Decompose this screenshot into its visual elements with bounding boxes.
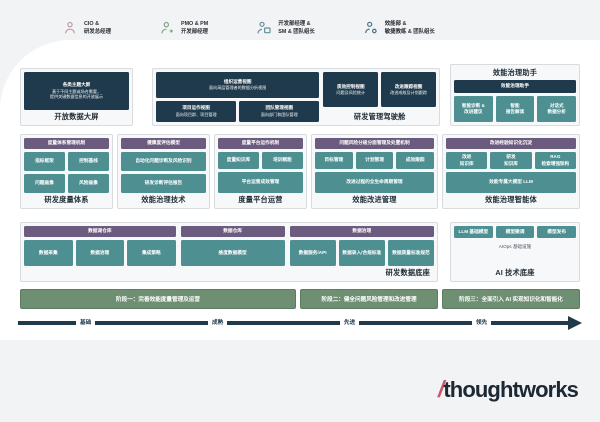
bigscreen-card-line3: 提供关键数据信息的开放展示	[50, 94, 103, 100]
improve-head-chip[interactable]: 问题风险分级分面管理及处置机制	[315, 138, 434, 149]
cockpit-inner: 组织运营视图 面向高层管理者的数据分析视图 项目运作视图 面向项目群、项目管理 …	[156, 72, 436, 122]
database-chip-processing[interactable]: 数据治理	[76, 240, 125, 266]
maturity-label-basic: 基础	[76, 317, 95, 329]
user-gear-icon	[363, 20, 379, 36]
tech-chip-assessment-report[interactable]: 研发诊断评估报告	[121, 174, 206, 193]
persona-devmanager-line1: 开发部经理 &	[278, 20, 315, 28]
platform-pair-row: 度量知识库 培训赋能	[218, 152, 303, 169]
maturity-label-leading: 领先	[472, 317, 491, 329]
cockpit-quality-view[interactable]: 质效控制视图 问题及风险统计	[323, 72, 378, 107]
panel-rd-data-foundation[interactable]: 数据湖仓库 数据采集 数据治理 集成策略 数据仓库 维度数据模型 数据治理 数据…	[20, 222, 438, 282]
assistant-item-report[interactable]: 智能 报告解读	[496, 96, 535, 122]
cockpit-team-view[interactable]: 团队管理视图 面向部门和团队管理	[239, 101, 319, 123]
aitech-chip-llm-base[interactable]: LLM 基础模型	[454, 226, 493, 238]
persona-efficiency-line2: 敏捷教练 & 团队组长	[385, 28, 435, 36]
logo-wordmark: thoughtworks	[443, 379, 578, 401]
agent-chip-rag[interactable]: RAG 检索增强架构	[535, 152, 576, 169]
agent-chip-llm[interactable]: 效能专属大模型 LLM	[446, 172, 576, 193]
persona-pmo-line1: PMO & PM	[181, 20, 208, 28]
user-add-icon	[159, 20, 175, 36]
persona-efficiency-label: 效能部 & 敏捷教练 & 团队组长	[385, 20, 435, 37]
metric-chip-issue-profile[interactable]: 问题画像	[24, 174, 65, 193]
improve-chip-goal[interactable]: 目标管理	[315, 152, 353, 169]
aitech-items-row: LLM 基础模型 模型微调 模型发布	[454, 226, 576, 238]
cockpit-right-column: 质效控制视图 问题及风险统计 改进跟踪视图 改进成效及计划跟踪 研发管理驾驶舱	[323, 72, 436, 122]
cockpit-team-view-desc: 面向部门和团队管理	[261, 112, 298, 118]
aitech-chip-finetune[interactable]: 模型微调	[496, 226, 535, 238]
maturity-label-mature: 成熟	[208, 317, 227, 329]
database-lakehouse-head[interactable]: 数据湖仓库	[24, 226, 176, 237]
cockpit-project-view[interactable]: 项目运作视图 面向项目群、项目管理	[156, 101, 236, 123]
metric-chip-control-baseline[interactable]: 控制基线	[68, 152, 109, 171]
database-group-governance: 数据治理 数据服务/API 数据录入/合规标准 数据质量标准规范	[290, 226, 434, 266]
database-warehouse-head[interactable]: 数据仓库	[181, 226, 285, 237]
aitech-panel-title: AI 技术底座	[454, 266, 576, 278]
persona-devmanager-label: 开发部经理 & SM & 团队组长	[278, 20, 315, 37]
footer: / thoughtworks	[0, 340, 600, 422]
database-chip-entry-standard[interactable]: 数据录入/合规标准	[339, 240, 385, 266]
assistant-item-chat-line2: 数据分析	[547, 109, 565, 115]
cockpit-tracking-view-desc: 改进成效及计划跟踪	[390, 90, 427, 96]
maturity-arrow-head	[568, 316, 582, 330]
phase-badge-2[interactable]: 阶段二：健全问题风险管理和改进管理	[300, 289, 438, 309]
persona-cio-line1: CIO &	[84, 20, 111, 28]
database-panel-title: 研发数据底座	[24, 266, 434, 278]
cockpit-org-view[interactable]: 组织运营视图 面向高层管理者的数据分析视图	[156, 72, 319, 98]
thoughtworks-logo: / thoughtworks	[438, 378, 578, 401]
persona-cio: CIO & 研发总经理	[62, 20, 111, 37]
tech-head-chip[interactable]: 健康度评估模型	[121, 138, 206, 149]
persona-cio-line2: 研发总经理	[84, 28, 111, 36]
phase-badge-1[interactable]: 阶段一：完善效能度量管理及运营	[20, 289, 296, 309]
platform-panel-title: 度量平台运营	[218, 193, 303, 205]
aitech-subtitle: AIOps 基础设施	[454, 244, 576, 250]
persona-pmo-line2: 开发部经理	[181, 28, 208, 36]
assistant-item-chat[interactable]: 对话式 数据分析	[537, 96, 576, 122]
metric-row-2: 问题画像 风险画像	[24, 174, 109, 193]
metric-head-chip[interactable]: 度量体系管理机制	[24, 138, 109, 149]
phase-badge-3[interactable]: 阶段三：全面引入 AI 实现知识化和智能化	[442, 289, 580, 309]
panel-efficiency-assistant[interactable]: 效能治理助手 效能治理助手 智能诊断 & 改进建议 智能 报告解读 对话式 数据…	[450, 64, 580, 126]
improve-chip-tracking[interactable]: 成效跟踪	[396, 152, 434, 169]
maturity-arrow: 基础 成熟 先进 领先	[18, 315, 582, 331]
metric-grid: 指标框架 控制基线 问题画像 风险画像	[24, 152, 109, 193]
assistant-item-report-line2: 报告解读	[506, 109, 524, 115]
database-group-lakehouse: 数据湖仓库 数据采集 数据治理 集成策略	[24, 226, 176, 266]
persona-efficiency-line1: 效能部 &	[385, 20, 435, 28]
database-chip-api-service[interactable]: 数据服务/API	[290, 240, 336, 266]
user-board-icon	[256, 20, 272, 36]
platform-chip-effectiveness[interactable]: 平台运营成效管理	[218, 172, 303, 193]
cockpit-org-view-desc: 面向高层管理者的数据分析视图	[209, 85, 266, 91]
panel-open-data-bigscreen[interactable]: 各类主题大屏 基于不同主题或场合需要， 提供关键数据信息的开放展示 开放数据大屏	[20, 68, 133, 126]
cockpit-left-column: 组织运营视图 面向高层管理者的数据分析视图 项目运作视图 面向项目群、项目管理 …	[156, 72, 319, 122]
agent-chip-improve-kb-line2: 知识库	[460, 161, 474, 167]
database-groups: 数据湖仓库 数据采集 数据治理 集成策略 数据仓库 维度数据模型 数据治理 数据…	[24, 226, 434, 266]
platform-chip-knowledge-base[interactable]: 度量知识库	[218, 152, 259, 169]
agent-rows: 改进 知识库 研发 知识库 RAG 检索增强架构 效能专属大模型 LLM	[446, 152, 576, 193]
tech-panel-title: 效能治理技术	[121, 193, 206, 205]
metric-row-1: 指标框架 控制基线	[24, 152, 109, 171]
tech-rows: 自动化问题诊断及风险识别 研发诊断评估报告	[121, 152, 206, 193]
database-governance-head[interactable]: 数据治理	[290, 226, 434, 237]
assistant-items-row: 智能诊断 & 改进建议 智能 报告解读 对话式 数据分析	[454, 96, 576, 122]
platform-rows: 度量知识库 培训赋能 平台运营成效管理	[218, 152, 303, 193]
cockpit-left-bottom-row: 项目运作视图 面向项目群、项目管理 团队管理视图 面向部门和团队管理	[156, 101, 319, 123]
cockpit-tracking-view[interactable]: 改进跟踪视图 改进成效及计划跟踪	[381, 72, 436, 107]
panel-platform-operations[interactable]: 度量平台运作机制 度量知识库 培训赋能 平台运营成效管理 度量平台运营	[214, 134, 307, 209]
agent-chip-rag-line2: 检索增强架构	[542, 161, 570, 167]
agent-head-chip[interactable]: 改进经验知识化沉淀	[446, 138, 576, 149]
metric-chip-indicator-framework[interactable]: 指标框架	[24, 152, 65, 171]
cockpit-project-view-desc: 面向项目群、项目管理	[176, 112, 217, 118]
agent-panel-title: 效能治理智能体	[446, 193, 576, 205]
persona-pmo: PMO & PM 开发部经理	[159, 20, 208, 37]
assistant-item-diagnosis-line2: 改进建议	[464, 109, 482, 115]
agent-chip-improve-kb[interactable]: 改进 知识库	[446, 152, 487, 169]
panel-ai-tech-foundation[interactable]: LLM 基础模型 模型微调 模型发布 AIOps 基础设施 AI 技术底座	[450, 222, 580, 282]
platform-head-chip[interactable]: 度量平台运作机制	[218, 138, 303, 149]
improve-chip-plan[interactable]: 计划管理	[356, 152, 394, 169]
panel-improvement-management[interactable]: 问题风险分级分面管理及处置机制 目标管理 计划管理 成效跟踪 改进过程的全生命周…	[311, 134, 438, 209]
database-chip-dimension-model[interactable]: 维度数据模型	[181, 240, 285, 266]
database-chip-quality-spec[interactable]: 数据质量标准规范	[388, 240, 434, 266]
improve-chip-lifecycle[interactable]: 改进过程的全生命周期管理	[315, 172, 434, 193]
metric-chip-risk-profile[interactable]: 风险画像	[68, 174, 109, 193]
agent-triple-row: 改进 知识库 研发 知识库 RAG 检索增强架构	[446, 152, 576, 169]
database-governance-items: 数据服务/API 数据录入/合规标准 数据质量标准规范	[290, 240, 434, 266]
database-chip-collection[interactable]: 数据采集	[24, 240, 73, 266]
agent-chip-rd-kb[interactable]: 研发 知识库	[490, 152, 531, 169]
improve-panel-title: 效能改进管理	[315, 193, 434, 205]
slide-root: CIO & 研发总经理 PMO & PM 开发部经理	[0, 0, 600, 422]
panel-governance-agent[interactable]: 改进经验知识化沉淀 改进 知识库 研发 知识库 RAG 检索增强架构 效能专属大…	[442, 134, 580, 209]
database-chip-integration[interactable]: 集成策略	[127, 240, 176, 266]
assistant-item-diagnosis[interactable]: 智能诊断 & 改进建议	[454, 96, 493, 122]
bigscreen-card[interactable]: 各类主题大屏 基于不同主题或场合需要， 提供关键数据信息的开放展示	[24, 72, 129, 110]
platform-chip-training[interactable]: 培训赋能	[262, 152, 303, 169]
persona-pmo-label: PMO & PM 开发部经理	[181, 20, 208, 37]
persona-devmanager-line2: SM & 团队组长	[278, 28, 315, 36]
panel-rd-metric-system[interactable]: 度量体系管理机制 指标框架 控制基线 问题画像 风险画像 研发度量体系	[20, 134, 113, 209]
database-warehouse-items: 维度数据模型	[181, 240, 285, 266]
assistant-main-chip[interactable]: 效能治理助手	[454, 80, 576, 93]
cockpit-right-row: 质效控制视图 问题及风险统计 改进跟踪视图 改进成效及计划跟踪	[323, 72, 436, 107]
maturity-label-advanced: 先进	[340, 317, 359, 329]
persona-cio-label: CIO & 研发总经理	[84, 20, 111, 37]
persona-devmanager: 开发部经理 & SM & 团队组长	[256, 20, 315, 37]
database-group-warehouse: 数据仓库 维度数据模型	[181, 226, 285, 266]
improve-triple-row: 目标管理 计划管理 成效跟踪	[315, 152, 434, 169]
panel-governance-tech[interactable]: 健康度评估模型 自动化问题诊断及风险识别 研发诊断评估报告 效能治理技术	[117, 134, 210, 209]
user-person-icon	[62, 20, 78, 36]
assistant-panel-title: 效能治理助手	[454, 68, 576, 78]
cockpit-quality-view-desc: 问题及风险统计	[336, 90, 365, 96]
agent-chip-rd-kb-line2: 知识库	[504, 161, 518, 167]
cockpit-panel-title: 研发管理驾驶舱	[323, 110, 436, 122]
panel-dev-management-cockpit[interactable]: 组织运营视图 面向高层管理者的数据分析视图 项目运作视图 面向项目群、项目管理 …	[152, 68, 440, 126]
database-lakehouse-items: 数据采集 数据治理 集成策略	[24, 240, 176, 266]
bigscreen-panel-title: 开放数据大屏	[24, 110, 129, 122]
metric-panel-title: 研发度量体系	[24, 193, 109, 205]
aitech-chip-deploy[interactable]: 模型发布	[537, 226, 576, 238]
persona-efficiency: 效能部 & 敏捷教练 & 团队组长	[363, 20, 435, 37]
improve-rows: 目标管理 计划管理 成效跟踪 改进过程的全生命周期管理	[315, 152, 434, 193]
tech-chip-auto-diagnosis[interactable]: 自动化问题诊断及风险识别	[121, 152, 206, 171]
